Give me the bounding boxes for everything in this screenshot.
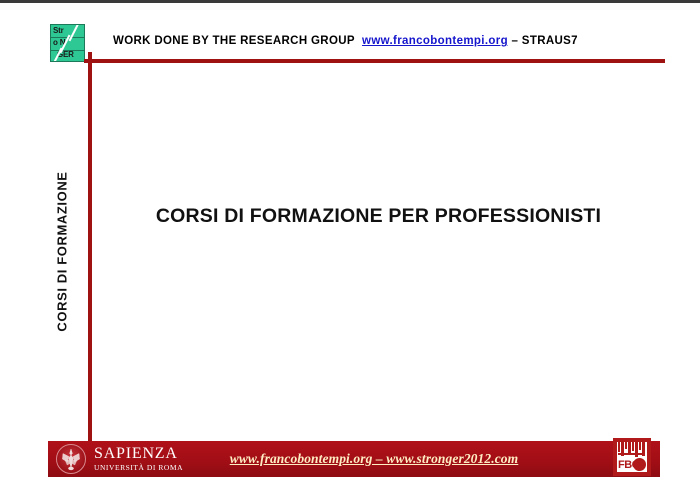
stronger-logo: Str o N GER [50, 24, 85, 62]
fbo-logo-pattern [617, 442, 647, 458]
fbo-bar [625, 442, 627, 449]
page-title: CORSI DI FORMAZIONE PER PROFESSIONISTI [92, 205, 665, 228]
header-title-text: WORK DONE BY THE RESEARCH GROUP [113, 35, 355, 47]
top-edge-rule [0, 0, 700, 3]
footer-links: www.francobontempi.org – www.stronger201… [48, 450, 660, 468]
footer-links-text[interactable]: www.francobontempi.org – www.stronger201… [230, 451, 519, 467]
fbo-bar [632, 442, 634, 451]
fbo-bar [618, 453, 645, 455]
fbo-bar [639, 442, 641, 450]
header-divider-rule [84, 59, 665, 63]
fbo-bar [618, 442, 620, 452]
header-link[interactable]: www.francobontempi.org [362, 35, 508, 47]
stronger-logo-divider-2 [51, 50, 84, 51]
header-separator: – [512, 35, 519, 47]
slide-canvas: Str o N GER WORK DONE BY THE RESEARCH GR… [0, 0, 700, 495]
header-title: WORK DONE BY THE RESEARCH GROUP www.fran… [113, 35, 578, 47]
section-label-text: CORSI DI FORMAZIONE [55, 171, 70, 331]
section-label: CORSI DI FORMAZIONE [0, 168, 124, 334]
footer-bar: SAPIENZA UNIVERSITÀ DI ROMA www.francobo… [48, 441, 660, 477]
fbo-logo: FBO [613, 438, 651, 476]
fbo-logo-dot-icon [633, 458, 646, 471]
header-software-label: STRAUS7 [522, 35, 578, 47]
